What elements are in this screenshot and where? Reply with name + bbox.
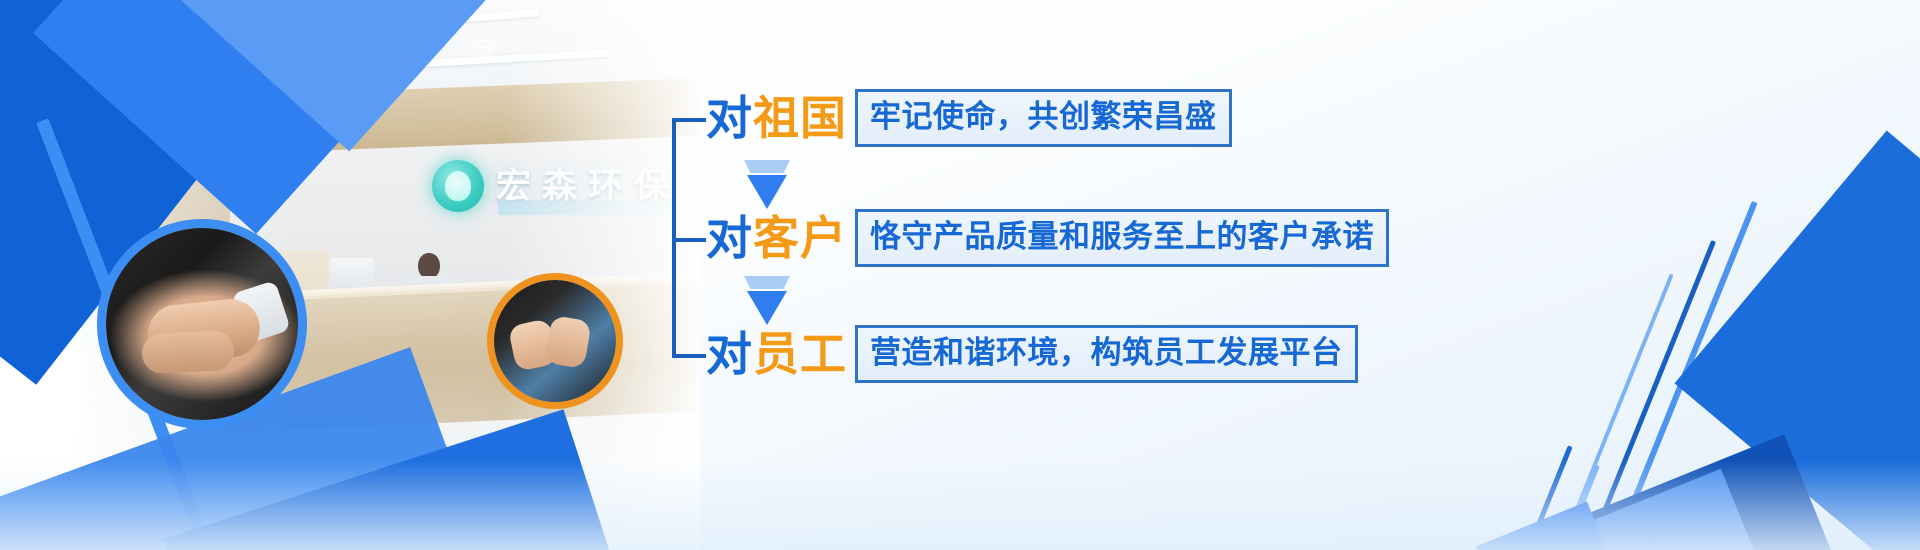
value-statement-country: 牢记使命，共创繁荣昌盛 <box>855 89 1232 147</box>
bracket-stub <box>672 354 706 358</box>
down-arrow-icon <box>744 276 790 325</box>
value-subject: 祖国 <box>753 92 847 144</box>
value-lead-country: 对祖国 <box>706 86 847 150</box>
value-prefix: 对 <box>706 212 753 264</box>
values-banner: 宏森环保 <box>0 0 1920 550</box>
value-row-employee: 对员工 营造和谐环境，构筑员工发展平台 <box>706 322 1358 386</box>
value-row-customer: 对客户 恪守产品质量和服务至上的客户承诺 <box>706 206 1389 270</box>
value-lead-employee: 对员工 <box>706 322 847 386</box>
arrow-cap <box>744 160 790 173</box>
value-prefix: 对 <box>706 92 753 144</box>
arrow-cap <box>744 276 790 289</box>
bracket-stub <box>672 118 706 122</box>
values-list: 对祖国 牢记使命，共创繁荣昌盛 对客户 恪守产品质量和服务至上的客户承诺 对员工… <box>0 0 1920 550</box>
down-arrow-icon <box>744 160 790 209</box>
arrow-tip <box>747 175 787 209</box>
arrow-tip <box>747 291 787 325</box>
value-row-country: 对祖国 牢记使命，共创繁荣昌盛 <box>706 86 1232 150</box>
value-statement-employee: 营造和谐环境，构筑员工发展平台 <box>855 325 1358 383</box>
value-prefix: 对 <box>706 328 753 380</box>
value-subject: 员工 <box>753 328 847 380</box>
value-subject: 客户 <box>753 212 847 264</box>
value-statement-customer: 恪守产品质量和服务至上的客户承诺 <box>855 209 1389 267</box>
bracket-stub <box>672 238 706 242</box>
value-lead-customer: 对客户 <box>706 206 847 270</box>
